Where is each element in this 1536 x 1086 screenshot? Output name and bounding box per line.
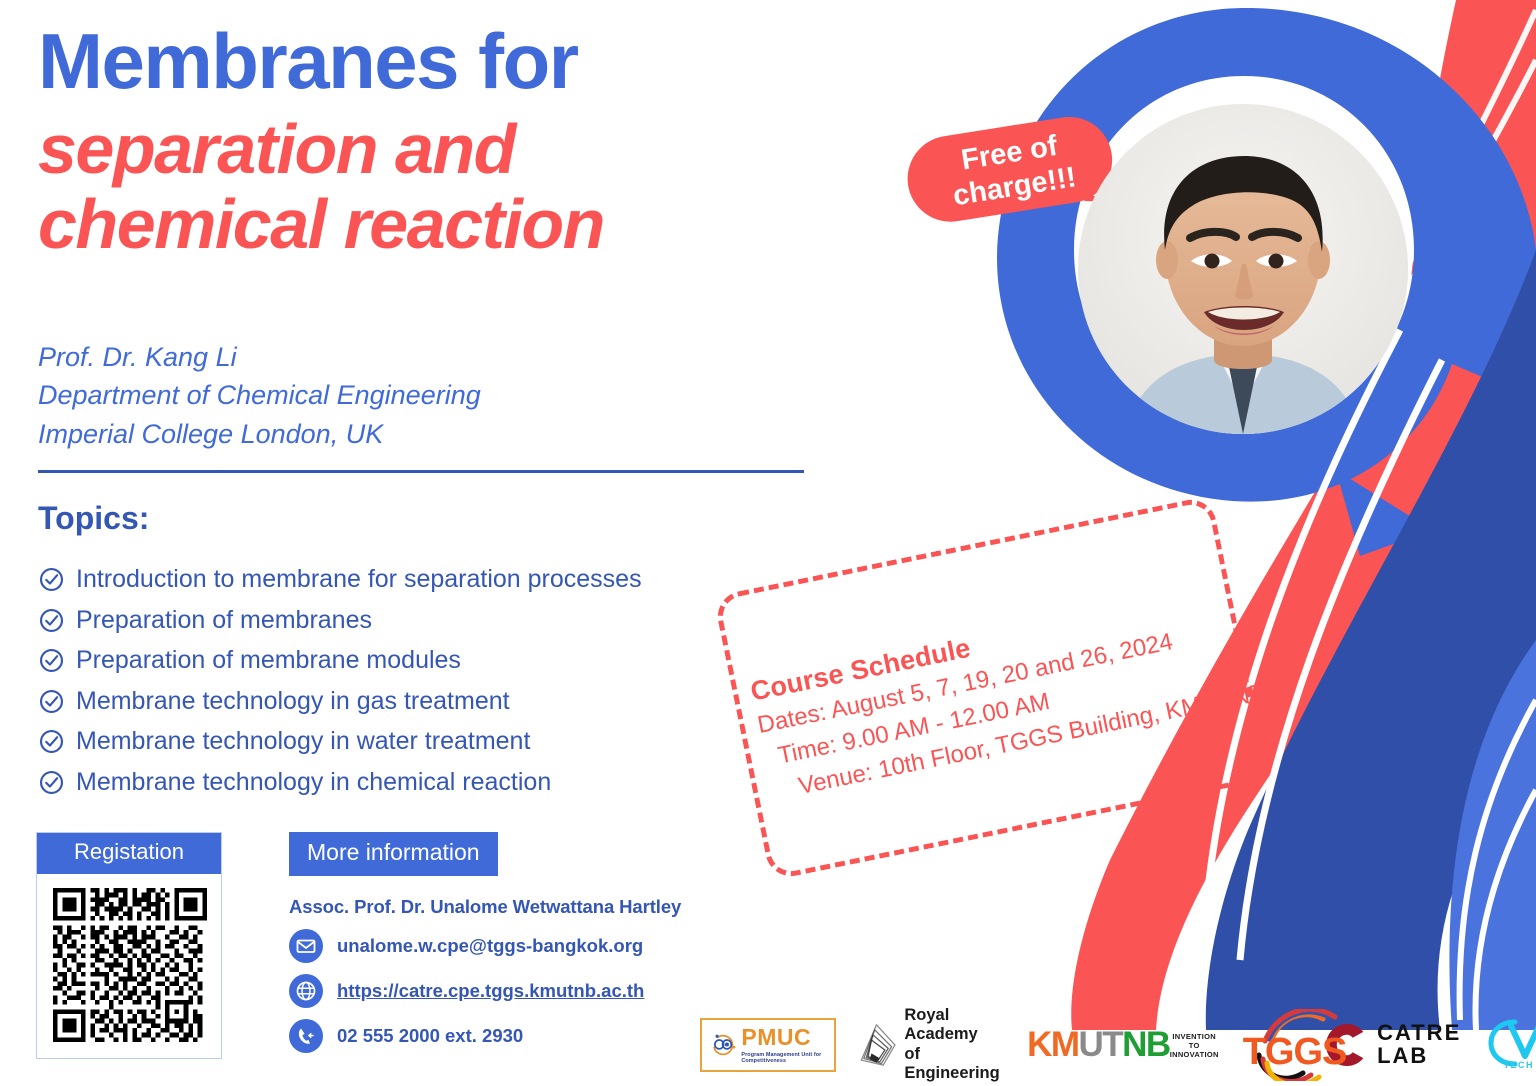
topic-label: Membrane technology in chemical reaction — [76, 766, 551, 798]
speaker-affiliation: Imperial College London, UK — [38, 415, 858, 453]
topic-item: Membrane technology in chemical reaction — [38, 766, 838, 801]
speaker-department: Department of Chemical Engineering — [38, 376, 858, 414]
phone-icon — [289, 1019, 323, 1053]
check-circle-icon — [38, 563, 76, 598]
speaker-name: Prof. Dr. Kang Li — [38, 338, 858, 376]
contact-website[interactable]: https://catre.cpe.tggs.kmutnb.ac.th — [337, 980, 644, 1002]
topic-item: Membrane technology in water treatment — [38, 725, 838, 760]
topic-label: Preparation of membrane modules — [76, 644, 461, 676]
check-circle-icon — [38, 604, 76, 639]
globe-icon — [289, 974, 323, 1008]
headline-line-3: chemical reaction — [38, 187, 918, 263]
kmutnb-tagline: INVENTION TO INNOVATION — [1170, 1032, 1219, 1059]
logo-pmuc: PMUC Program Management Unit for Competi… — [700, 1018, 836, 1072]
logo-tggs: TGGS — [1237, 1009, 1310, 1081]
pmuc-tagline: Program Management Unit for Competitiven… — [741, 1052, 824, 1064]
registration-card[interactable]: Registation — [36, 832, 222, 1059]
check-circle-icon — [38, 644, 76, 679]
envelope-icon — [289, 929, 323, 963]
topic-item: Membrane technology in gas treatment — [38, 685, 838, 720]
catre-line-1: CATRE — [1377, 1022, 1461, 1044]
contact-phone-row[interactable]: 02 555 2000 ext. 2930 — [289, 1019, 709, 1053]
pmuc-mark-icon — [711, 1027, 737, 1063]
royal-academy-mark-icon — [858, 1019, 897, 1071]
topic-label: Membrane technology in water treatment — [76, 725, 530, 757]
pmuc-wordmark: PMUC — [741, 1026, 824, 1049]
check-circle-icon — [38, 766, 76, 801]
royal-academy-line-2: of Engineering — [904, 1045, 1007, 1083]
contact-phone[interactable]: 02 555 2000 ext. 2930 — [337, 1025, 523, 1047]
tggs-wordmark: TGGS — [1243, 1031, 1347, 1074]
headline-line-1: Membranes for — [38, 22, 918, 102]
contact-email-row[interactable]: unalome.w.cpe@tggs-bangkok.org — [289, 929, 709, 963]
contact-email[interactable]: unalome.w.cpe@tggs-bangkok.org — [337, 935, 643, 957]
catre-line-2: LAB — [1377, 1045, 1461, 1067]
check-circle-icon — [38, 685, 76, 720]
contact-person-name: Assoc. Prof. Dr. Unalome Wetwattana Hart… — [289, 896, 709, 918]
logo-kmutnb: KMUTNB INVENTION TO INNOVATION — [1027, 1027, 1219, 1062]
speaker-photo — [1078, 104, 1408, 434]
contact-website-row[interactable]: https://catre.cpe.tggs.kmutnb.ac.th — [289, 974, 709, 1008]
course-schedule-card: Course Schedule Dates: August 5, 7, 19, … — [713, 495, 1269, 880]
topic-label: Introduction to membrane for separation … — [76, 563, 642, 595]
more-information-header: More information — [289, 832, 498, 876]
registration-header: Registation — [37, 833, 221, 874]
headline-line-2: separation and — [38, 112, 918, 188]
topics-heading: Topics: — [38, 500, 149, 537]
royal-academy-line-1: Royal Academy — [904, 1006, 1007, 1044]
kmutnb-wordmark: KMUTNB — [1027, 1027, 1170, 1062]
topic-item: Introduction to membrane for separation … — [38, 563, 838, 598]
topic-label: Membrane technology in gas treatment — [76, 685, 510, 717]
check-circle-icon — [38, 725, 76, 760]
logo-m-tech: TECH — [1481, 1016, 1536, 1074]
more-information-block: More information Assoc. Prof. Dr. Unalom… — [289, 832, 709, 1053]
topic-label: Preparation of membranes — [76, 604, 372, 636]
sponsor-logo-strip: PMUC Program Management Unit for Competi… — [700, 1003, 1536, 1086]
logo-royal-academy-of-engineering: Royal Academy of Engineering — [858, 1006, 1007, 1083]
poster-headline: Membranes for separation and chemical re… — [38, 22, 918, 263]
portrait-illustration — [1078, 104, 1408, 434]
section-divider — [38, 470, 804, 473]
registration-qr-code[interactable] — [53, 888, 207, 1042]
speaker-info: Prof. Dr. Kang Li Department of Chemical… — [38, 338, 858, 453]
mtech-tagline: TECH — [1504, 1060, 1535, 1070]
topic-item: Preparation of membrane modules — [38, 644, 838, 679]
